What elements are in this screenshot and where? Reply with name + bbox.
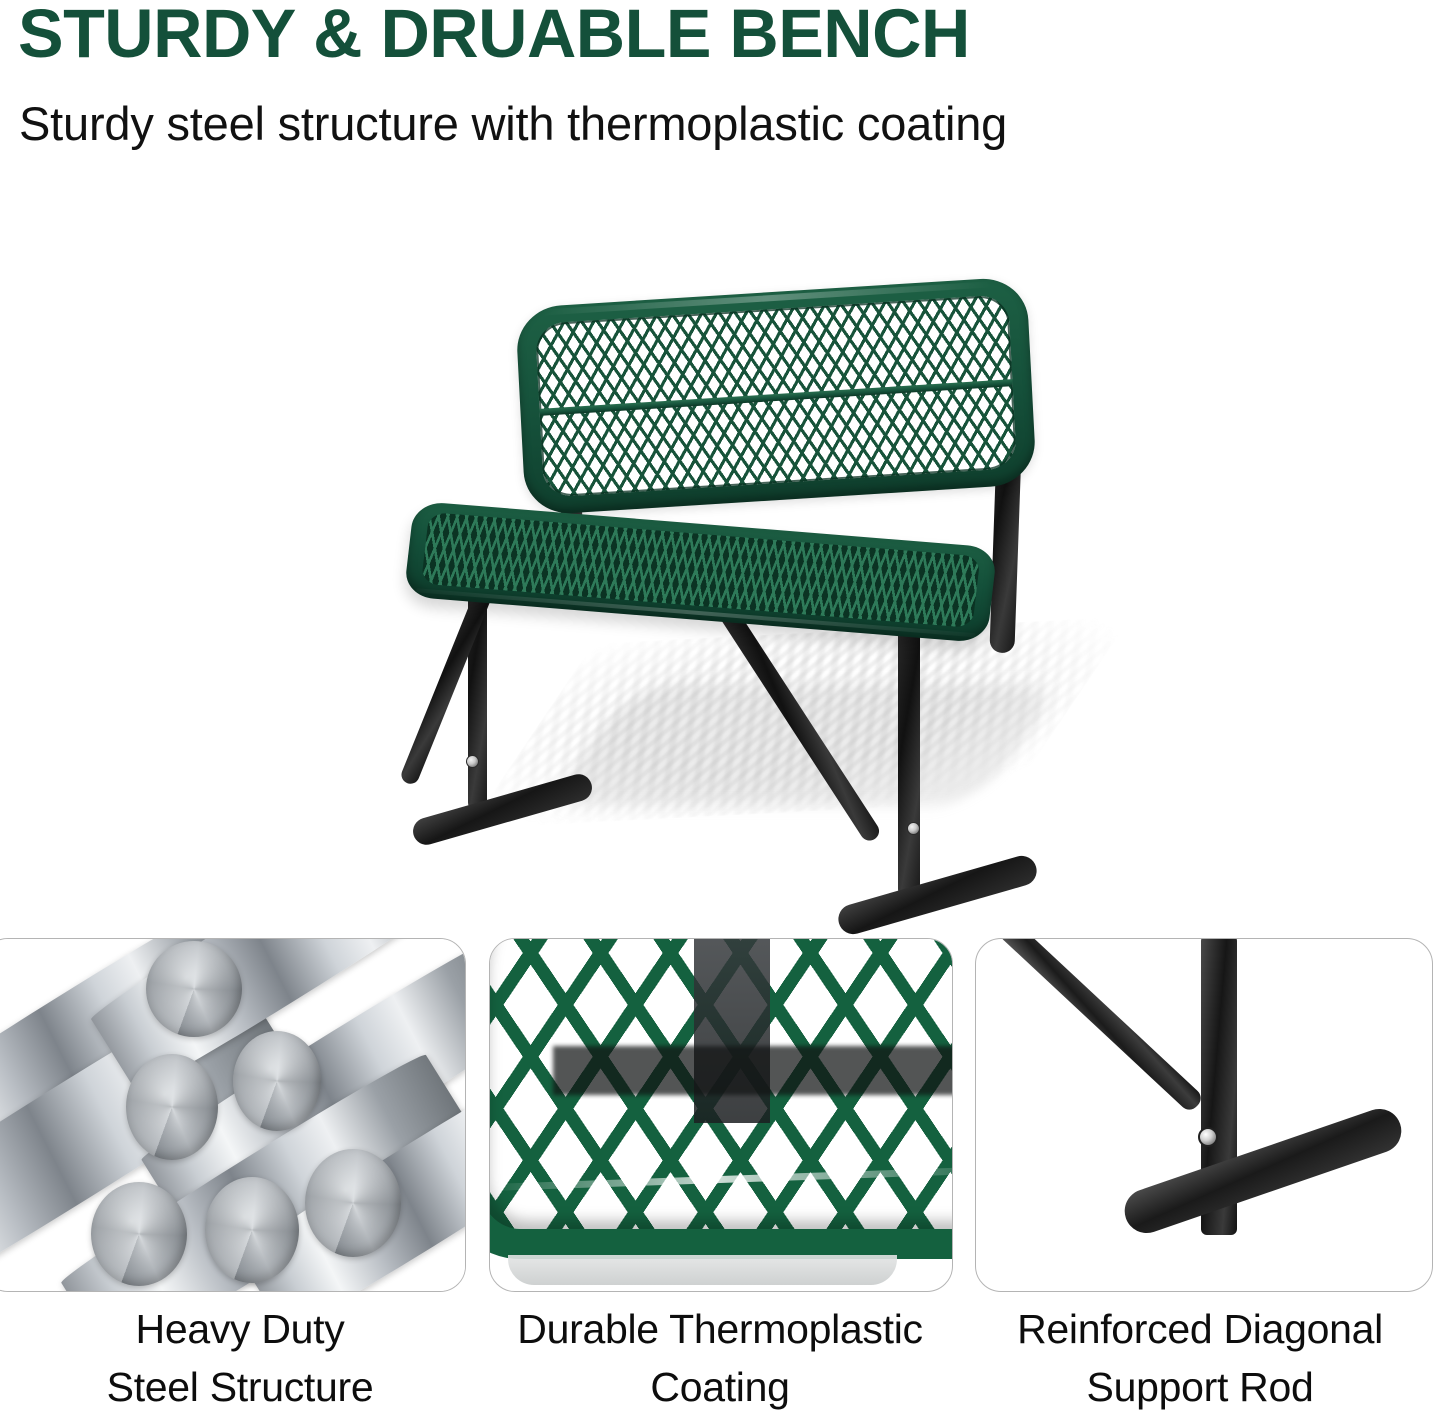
hero-product-image — [0, 190, 1445, 930]
backrest-mesh — [535, 294, 1017, 498]
caption-line-2: Coating — [480, 1358, 960, 1416]
bench-leg-right — [898, 610, 920, 900]
diagonal-support-rod — [996, 938, 1205, 1114]
page-title: STURDY & DRUABLE BENCH — [18, 0, 970, 70]
steel-rod-end-face — [305, 1149, 401, 1257]
feature-caption-heavy-duty-steel-structure: Heavy Duty Steel Structure — [10, 1300, 470, 1416]
caption-line-2: Support Rod — [965, 1358, 1435, 1416]
feature-panel-durable-thermoplastic-coating — [489, 938, 953, 1292]
bolt-icon-left — [466, 755, 479, 768]
caption-line-1: Reinforced Diagonal — [965, 1300, 1435, 1358]
product-infographic: STURDY & DRUABLE BENCH Sturdy steel stru… — [0, 0, 1445, 1427]
feature-caption-durable-thermoplastic-coating: Durable Thermoplastic Coating — [480, 1300, 960, 1416]
steel-rod-end-face — [146, 941, 242, 1037]
bench-illustration — [380, 230, 1100, 910]
backrest-center-rail — [539, 379, 1012, 416]
bolt-icon-right — [907, 822, 920, 835]
feature-caption-row: Heavy Duty Steel Structure Durable Therm… — [0, 1300, 1445, 1427]
caption-line-1: Heavy Duty — [10, 1300, 470, 1358]
caption-line-1: Durable Thermoplastic — [480, 1300, 960, 1358]
steel-rod-end-face — [126, 1054, 218, 1160]
feature-panel-row — [0, 938, 1445, 1292]
bench-seat — [403, 501, 997, 643]
mesh-coated-rim — [489, 938, 953, 1259]
caption-line-2: Steel Structure — [10, 1358, 470, 1416]
feature-caption-reinforced-diagonal-support-rod: Reinforced Diagonal Support Rod — [965, 1300, 1435, 1416]
page-subtitle: Sturdy steel structure with thermoplasti… — [19, 98, 1007, 150]
mesh-rim-gloss-highlight — [489, 1168, 953, 1191]
feature-panel-heavy-duty-steel-structure — [0, 938, 466, 1292]
bolt-icon — [1198, 1127, 1218, 1147]
feature-panel-reinforced-diagonal-support-rod — [975, 938, 1433, 1292]
steel-rod-end-face — [233, 1031, 321, 1131]
steel-rod-end-face — [91, 1182, 187, 1286]
steel-rod-end-face — [205, 1177, 299, 1283]
steel-rods-photo — [0, 939, 465, 1291]
bench-backrest — [515, 276, 1037, 516]
t-shaped-foot — [1119, 1103, 1408, 1239]
bench-foot-right — [835, 852, 1040, 937]
mesh-underside-edge — [508, 1255, 896, 1285]
